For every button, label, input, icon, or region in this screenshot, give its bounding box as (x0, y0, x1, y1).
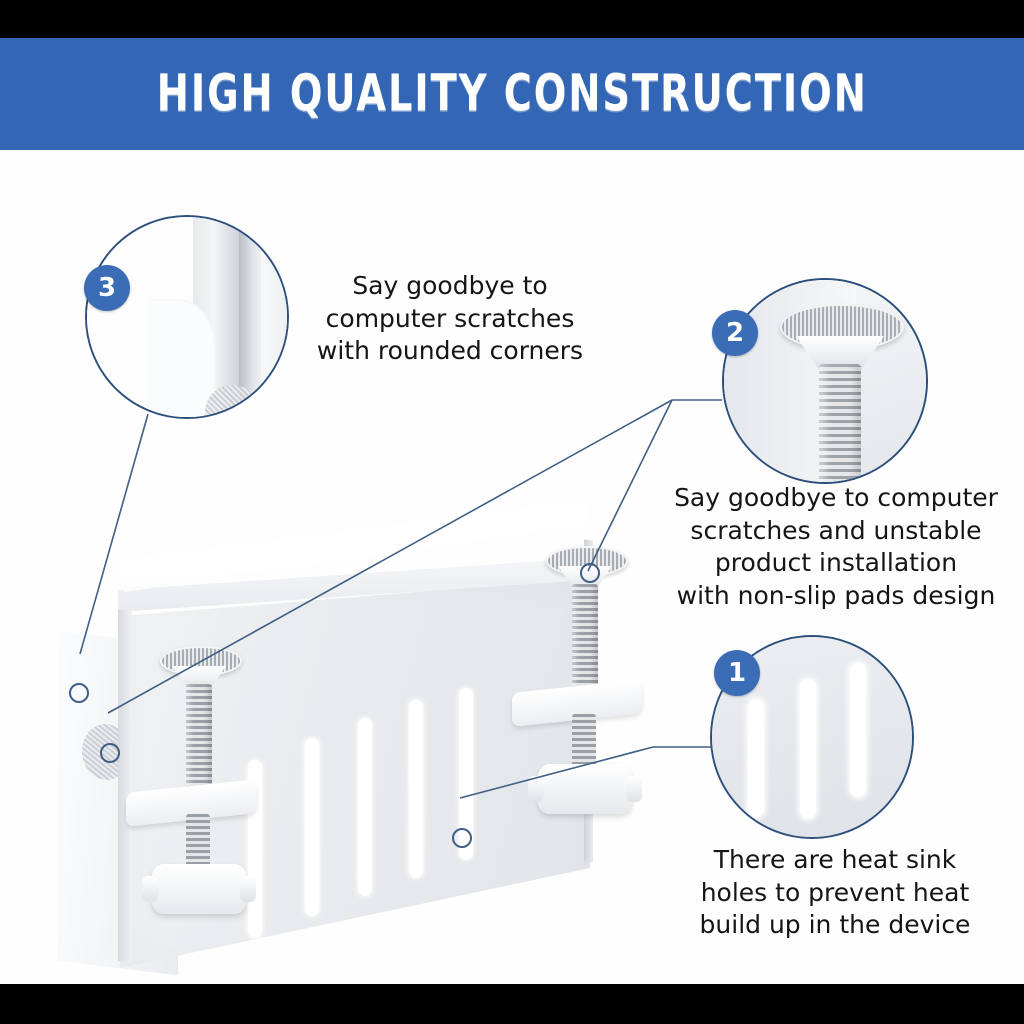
leader-line-3 (80, 414, 148, 654)
anchor-dot-rounded-corner (69, 683, 89, 703)
callout-badge-3[interactable]: 3 (84, 265, 130, 311)
leader-lines (0, 38, 1024, 984)
screenshot-stage: HIGH QUALITY CONSTRUCTION (0, 0, 1024, 1024)
letterbox-bottom (0, 984, 1024, 1024)
letterbox-top (0, 0, 1024, 38)
callout-badge-1[interactable]: 1 (714, 650, 760, 696)
leader-line-2b (588, 400, 672, 571)
leader-line-1 (460, 747, 712, 798)
callout-badge-2-label: 2 (726, 318, 744, 348)
anchor-dot-heat-sink-slot (452, 828, 472, 848)
leader-line-2a (108, 400, 672, 713)
callout-badge-2[interactable]: 2 (712, 310, 758, 356)
infographic-canvas: HIGH QUALITY CONSTRUCTION (0, 38, 1024, 984)
callout-badge-3-label: 3 (98, 273, 116, 303)
anchor-dot-non-slip-pad (100, 743, 120, 763)
anchor-dot-clamp-cap (580, 563, 600, 583)
callout-badge-1-label: 1 (728, 658, 746, 688)
